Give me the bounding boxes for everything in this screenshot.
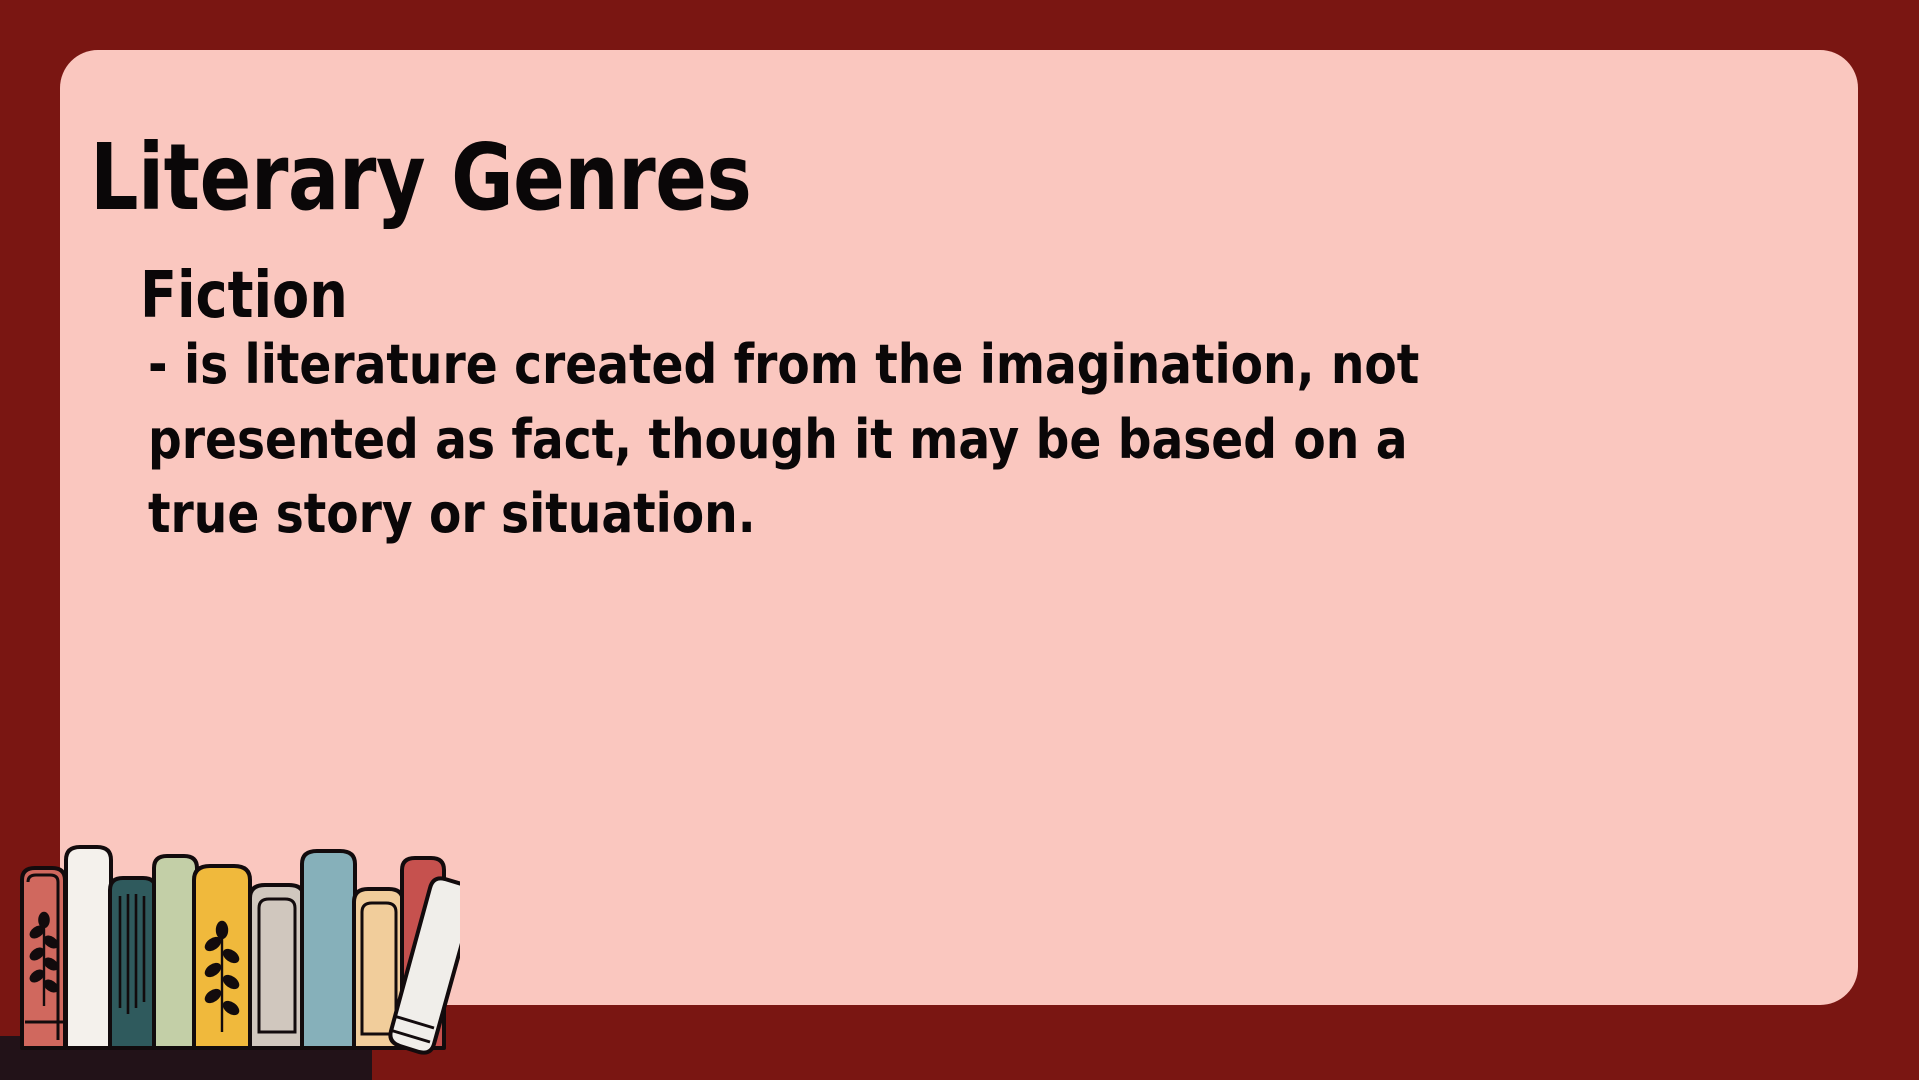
body-line-2: presented as fact, though it may be base… [148, 403, 1525, 478]
leaning-bands [390, 1016, 434, 1042]
shelf-slab [0, 1036, 372, 1080]
body-line-1: - is literature created from the imagina… [148, 328, 1525, 403]
book-coral-leaf [22, 868, 65, 1048]
content-card: Literary Genres Fiction - is literature … [60, 50, 1858, 1005]
section-subheading: Fiction [140, 261, 348, 331]
body-line-3: true story or situation. [148, 477, 1525, 552]
page-title: Literary Genres [90, 128, 751, 227]
leaf-sprig-icon [29, 913, 59, 1006]
slide-canvas: Literary Genres Fiction - is literature … [0, 0, 1919, 1080]
body-paragraph: - is literature created from the imagina… [148, 328, 1525, 552]
